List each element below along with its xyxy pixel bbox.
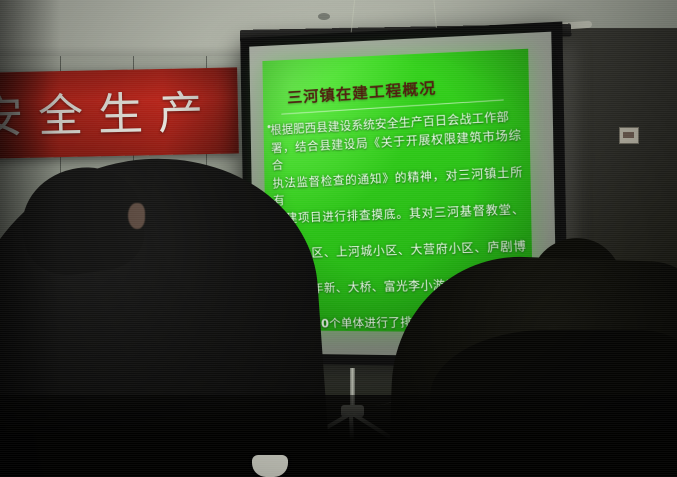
ceiling-fixture-icon bbox=[318, 13, 330, 20]
screenshot-root: 安全生产 bbox=[0, 0, 677, 477]
banner-shading bbox=[0, 67, 239, 158]
wall-plaque bbox=[619, 127, 639, 144]
foreground-shadow bbox=[0, 395, 677, 477]
audience-member-left-ear bbox=[128, 203, 145, 229]
meeting-room: 安全生产 bbox=[0, 0, 677, 477]
red-safety-banner: 安全生产 bbox=[0, 67, 239, 158]
teacup-foreground bbox=[252, 455, 288, 477]
